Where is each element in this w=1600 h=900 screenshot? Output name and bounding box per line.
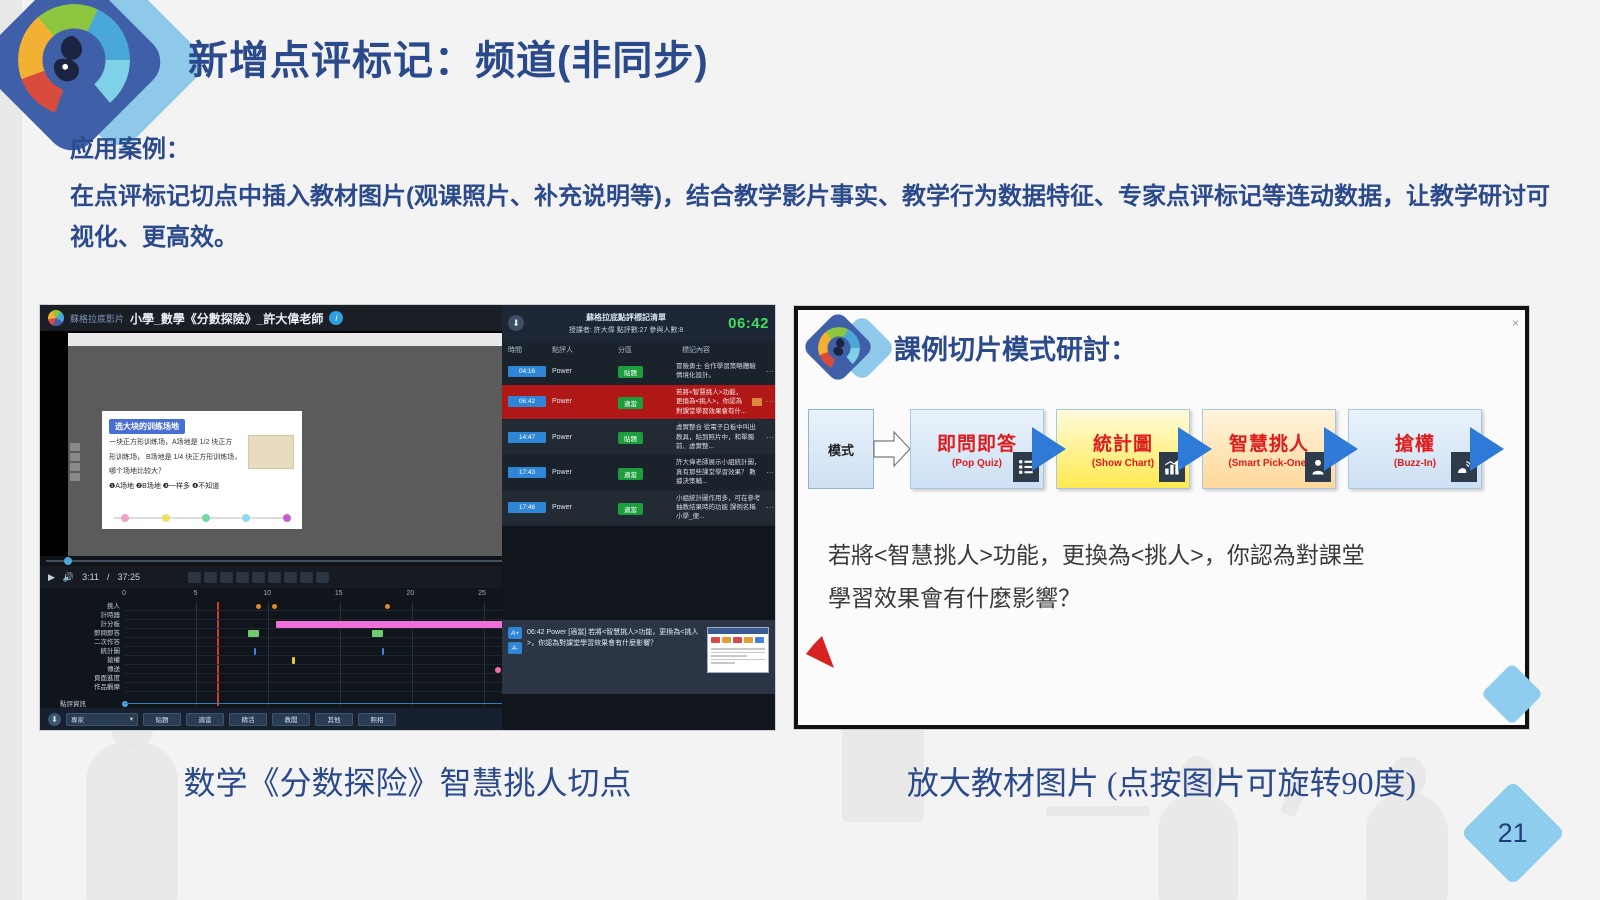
comment-row-selected[interactable]: 06:42 Power 適當 若將<智慧挑人>功能，更換為<挑人>，你認為對課堂…: [502, 385, 775, 420]
gantt-row-label: 計分板: [40, 620, 120, 629]
time-separator: /: [107, 572, 110, 582]
axis-tick: 25: [478, 590, 486, 597]
flow-arrow-blue-icon: [1032, 427, 1066, 471]
red-arrow-connector-icon: [770, 612, 840, 682]
comment-timer: 06:42: [728, 315, 769, 332]
pen-icon[interactable]: [204, 572, 217, 583]
flow-card-en: (Smart Pick-One): [1228, 458, 1309, 469]
play-icon[interactable]: ▶: [48, 572, 55, 583]
thumb-line: [711, 659, 765, 661]
info-icon[interactable]: i: [329, 311, 343, 325]
question-line-2: 學習效果會有什麼影響？: [828, 577, 1489, 620]
slice-discussion-screenshot[interactable]: × 課例切片模式研討： 模式 即問即答 (Pop Quiz): [793, 305, 1530, 730]
comment-detail-callout[interactable]: A+ A- 06:42 Power [適當] 若將<智慧挑人>功能，更換為<挑人…: [502, 620, 775, 694]
download-icon[interactable]: ⬇: [48, 713, 61, 726]
silhouette-body: [1158, 792, 1238, 900]
axis-tick: 0: [122, 590, 126, 597]
flow-card-buzz-in[interactable]: 搶權 (Buzz-In): [1348, 409, 1482, 489]
video-brand-label: 蘇格拉底影片: [70, 312, 124, 325]
comment-text: 小組統計圖作用多，可在參考抽教結果時的功能 課例名稱 小學_便...: [676, 494, 765, 522]
comment-list-panel[interactable]: ⬇ 蘇格拉底點評標記清單 授課者: 許大偉 點評數:27 參與人數:8 06:4…: [502, 305, 775, 730]
thumbnail-icons: [708, 634, 768, 646]
socrates-logo-icon: [48, 310, 64, 326]
download-icon[interactable]: ⬇: [508, 315, 524, 331]
comment-tag: 貼題: [612, 428, 676, 446]
flow-start-label: 模式: [808, 409, 874, 489]
tool-icon[interactable]: [70, 473, 80, 481]
comment-tag: 適當: [612, 464, 676, 482]
slide-options: ❶A场地 ❷B场地 ❸一样多 ❹不知道: [109, 481, 295, 491]
comment-tag-label: 適當: [618, 503, 643, 515]
slice-panel-title: 課例切片模式研討：: [894, 328, 1137, 367]
frame-bottom-border: [794, 725, 1529, 729]
flow-arrow-outline-icon: [872, 429, 912, 469]
video-inner-topbar-left: [72, 337, 74, 343]
tag-button-1[interactable]: 適當: [186, 713, 224, 726]
comment-tag: 適當: [612, 393, 676, 411]
logo-bird-icon: [40, 30, 102, 92]
comment-user: Power: [546, 368, 612, 375]
tag-button-3[interactable]: 教闆: [272, 713, 310, 726]
callout-thumbnail[interactable]: [707, 627, 769, 673]
comment-tag: 貼題: [612, 362, 676, 380]
comment-row[interactable]: 14:47 Power 貼題 虛實整合 從電子白板中叫出教具，貼到照片中，和單獨…: [502, 420, 775, 455]
column-zone[interactable]: 分區: [612, 345, 676, 355]
frame-top-border: [794, 306, 1529, 310]
comment-panel-subtitle: 授課者: 許大偉 點評數:27 參與人數:8: [524, 325, 728, 335]
thumb-icon: [733, 637, 742, 643]
flow-arrow-blue-icon: [1324, 427, 1358, 471]
slide-image-swatch: [248, 435, 294, 469]
gantt-bar: [254, 648, 256, 655]
text-icon[interactable]: [252, 572, 265, 583]
progress-dot: [202, 514, 210, 522]
axis-tick: 15: [335, 590, 343, 597]
thumb-icon: [755, 637, 764, 643]
comment-more-icon[interactable]: ⋯: [765, 397, 775, 406]
crop-icon[interactable]: [188, 572, 201, 583]
axis-tick: 10: [263, 590, 271, 597]
video-title: 小學_數學《分數探險》_許大偉老師: [130, 310, 323, 327]
flow-arrow-blue-icon: [1178, 427, 1212, 471]
volume-icon[interactable]: 🔊: [63, 572, 74, 583]
tool-icon[interactable]: [70, 443, 80, 451]
gantt-mark: [385, 604, 390, 609]
tag-button-4[interactable]: 其他: [315, 713, 353, 726]
comment-tag-label: 適當: [618, 397, 643, 409]
gantt-bottom-axis-label: 點評資訊: [60, 698, 86, 708]
grade-buttons[interactable]: A+ A-: [508, 627, 522, 654]
gantt-bar: [248, 630, 259, 637]
expert-filter-select[interactable]: 專家 ▾: [66, 713, 138, 726]
comment-text: 若將<智慧挑人>功能，更換為<挑人>，你認為對課堂學習效果會有什...: [676, 388, 752, 416]
flow-card-pop-quiz[interactable]: 即問即答 (Pop Quiz): [910, 409, 1044, 489]
mode-flow-diagram: 模式 即問即答 (Pop Quiz) 統計圖: [808, 406, 1529, 492]
lesson-slide-card: 选大块的训练场地 一块正方形训练场，A场地是 1/2 块正方 形训练场， B场地…: [102, 411, 302, 529]
question-line-1: 若將<智慧挑人>功能，更換為<挑人>，你認為對課堂: [828, 534, 1489, 577]
flow-card-cn: 搶權: [1395, 429, 1435, 456]
column-time: 時間: [502, 345, 546, 355]
gantt-row-label: 作品觀摩: [40, 683, 120, 692]
thumb-icon: [722, 637, 731, 643]
comment-user: Power: [546, 434, 612, 441]
progress-dot: [121, 514, 129, 522]
flag-icon[interactable]: [236, 572, 249, 583]
comment-panel-title: 蘇格拉底點評標記清單: [524, 312, 728, 323]
thumb-line: [711, 662, 735, 664]
annotation-tools[interactable]: [188, 572, 329, 583]
comment-panel-header: ⬇ 蘇格拉底點評標記清單 授課者: 許大偉 點評數:27 參與人數:8 06:4…: [502, 305, 775, 341]
flow-card-en: (Pop Quiz): [952, 458, 1002, 469]
gantt-row-label: 統計圖: [40, 647, 120, 656]
thumb-line: [711, 655, 747, 657]
flow-arrow-blue-icon: [1470, 427, 1504, 471]
comment-tag: 適當: [612, 499, 676, 517]
grid-icon[interactable]: [300, 572, 313, 583]
caption-left: 数学《分数探险》智慧挑人切点: [40, 758, 775, 804]
scrubber-knob[interactable]: [64, 557, 72, 565]
gantt-row-label: 二次作答: [40, 638, 120, 647]
body-text: 应用案例： 在点评标记切点中插入教材图片(观课照片、补充说明等)，结合教学影片事…: [70, 130, 1550, 258]
progress-dot: [162, 514, 170, 522]
comment-row[interactable]: 04:16 Power 貼題 冒險勇士 合作學習策略體驗情境化設計。 ⋯: [502, 359, 775, 385]
tool-icon[interactable]: [70, 453, 80, 461]
gantt-row-label: 挑人: [40, 602, 120, 611]
comment-more-icon[interactable]: ⋯: [765, 433, 775, 442]
duration: 37:25: [118, 572, 141, 582]
gantt-mark: [272, 604, 277, 609]
comment-time: 14:47: [508, 432, 546, 443]
circle-icon[interactable]: [268, 572, 281, 583]
comment-row[interactable]: 17:43 Power 適當 許大偉老師展示小組統計圖，真有那些課堂學習效果？ …: [502, 455, 775, 490]
comment-more-icon[interactable]: ⋯: [765, 367, 775, 376]
flow-card-cn: 即問即答: [937, 429, 1017, 456]
flow-card-smart-pick[interactable]: 智慧挑人 (Smart Pick-One): [1202, 409, 1336, 489]
gantt-row-label: 頁面進度: [40, 674, 120, 683]
comment-panel-titles: 蘇格拉底點評標記清單 授課者: 許大偉 點評數:27 參與人數:8: [524, 312, 728, 335]
comment-tag-label: 適當: [618, 468, 643, 480]
comment-text: 許大偉老師展示小組統計圖，真有那些課堂學習效果？ 數據決策輔...: [676, 458, 765, 486]
whiteboard-left-toolbar[interactable]: [70, 443, 82, 481]
close-icon[interactable]: ×: [1512, 316, 1519, 330]
gantt-row-label: 搶權: [40, 656, 120, 665]
silhouette-desk: [1046, 806, 1150, 816]
gantt-mark: [495, 667, 501, 673]
comment-tag-label: 貼題: [618, 432, 643, 444]
thumb-icon: [711, 637, 720, 643]
callout-text: 06:42 Power [適當] 若將<智慧挑人>功能，更換為<挑人>，你認為對…: [527, 627, 702, 649]
comment-more-icon[interactable]: ⋯: [765, 468, 775, 477]
gantt-bar: [382, 648, 384, 655]
body-paragraph: 在点评标记切点中插入教材图片(观课照片、补充说明等)，结合教学影片事实、教学行为…: [70, 177, 1550, 259]
flow-card-cn: 智慧挑人: [1229, 429, 1309, 456]
attachment-image-icon[interactable]: [752, 398, 762, 406]
frame-right-border: [1525, 306, 1529, 729]
page-title: 新增点评标记：频道(非同步): [188, 28, 709, 86]
comment-time: 17:46: [508, 502, 546, 513]
comment-user: Power: [546, 469, 612, 476]
comment-time: 17:43: [508, 467, 546, 478]
gantt-row-label: 傳送: [40, 665, 120, 674]
tag-button-2[interactable]: 精活: [229, 713, 267, 726]
comment-user: Power: [546, 398, 612, 405]
comment-text: 冒險勇士 合作學習策略體驗情境化設計。: [676, 362, 765, 381]
column-reviewer[interactable]: 點評人: [546, 345, 612, 355]
thumb-line: [711, 648, 765, 650]
logo-bird-icon: [828, 336, 852, 360]
slide-progress-dots: [110, 514, 294, 522]
thumb-icon: [744, 637, 753, 643]
comment-user: Power: [546, 504, 612, 511]
flow-card-en: (Buzz-In): [1394, 458, 1436, 469]
flow-card-en: (Show Chart): [1092, 458, 1154, 469]
grade-up-button[interactable]: A+: [508, 627, 522, 639]
slice-question: 若將<智慧挑人>功能，更換為<挑人>，你認為對課堂 學習效果會有什麼影響？: [828, 534, 1489, 619]
comment-panel-footer: [502, 694, 775, 730]
thumb-line: [711, 652, 765, 654]
chevron-down-icon: ▾: [130, 715, 133, 723]
gantt-bottom-axis-dot: [122, 701, 128, 707]
current-time: 3:11: [82, 572, 99, 582]
comment-column-headers: 時間 點評人 分區 標記內容: [502, 341, 775, 359]
body-lead: 应用案例：: [70, 130, 1550, 171]
flow-card-show-chart[interactable]: 統計圖 (Show Chart): [1056, 409, 1190, 489]
gantt-row-label: 計時器: [40, 611, 120, 620]
gantt-row-label: 即問即答: [40, 629, 120, 638]
comment-text: 虛實整合 從電子白板中叫出教具，貼到照片中，和單獨前、虛實整...: [676, 423, 765, 451]
gantt-mark: [256, 604, 261, 609]
slice-brand-logo: [804, 318, 882, 388]
comment-time: 06:42: [508, 396, 546, 407]
check-icon[interactable]: [316, 572, 329, 583]
line-icon[interactable]: [284, 572, 297, 583]
grade-down-button[interactable]: A-: [508, 642, 522, 654]
tag-button-5[interactable]: 照相: [358, 713, 396, 726]
expert-filter-value: 專家: [71, 714, 84, 724]
column-content: 標記內容: [676, 345, 775, 355]
comment-more-icon[interactable]: ⋯: [765, 503, 775, 512]
slide-root: 新增点评标记：频道(非同步) 应用案例： 在点评标记切点中插入教材图片(观课照片…: [0, 0, 1600, 900]
gantt-bar: [372, 630, 383, 637]
progress-dot: [283, 514, 291, 522]
comment-time: 04:16: [508, 366, 546, 377]
axis-tick: 20: [406, 590, 414, 597]
tool-icon[interactable]: [70, 463, 80, 471]
caption-right: 放大教材图片 (点按图片可旋转90度): [793, 758, 1530, 804]
tag-button-0[interactable]: 貼題: [143, 713, 181, 726]
silhouette-body: [1366, 792, 1448, 900]
gantt-bar: [292, 657, 295, 664]
arrow-icon[interactable]: [220, 572, 233, 583]
flow-card-cn: 統計圖: [1093, 429, 1153, 456]
slide-banner: 选大块的训练场地: [109, 419, 185, 434]
comment-row[interactable]: 17:46 Power 適當 小組統計圖作用多，可在參考抽教結果時的功能 課例名…: [502, 491, 775, 526]
progress-dot: [242, 514, 250, 522]
comment-tag-label: 貼題: [618, 366, 643, 378]
axis-tick: 5: [194, 590, 198, 597]
page-number: 21: [1498, 817, 1528, 848]
